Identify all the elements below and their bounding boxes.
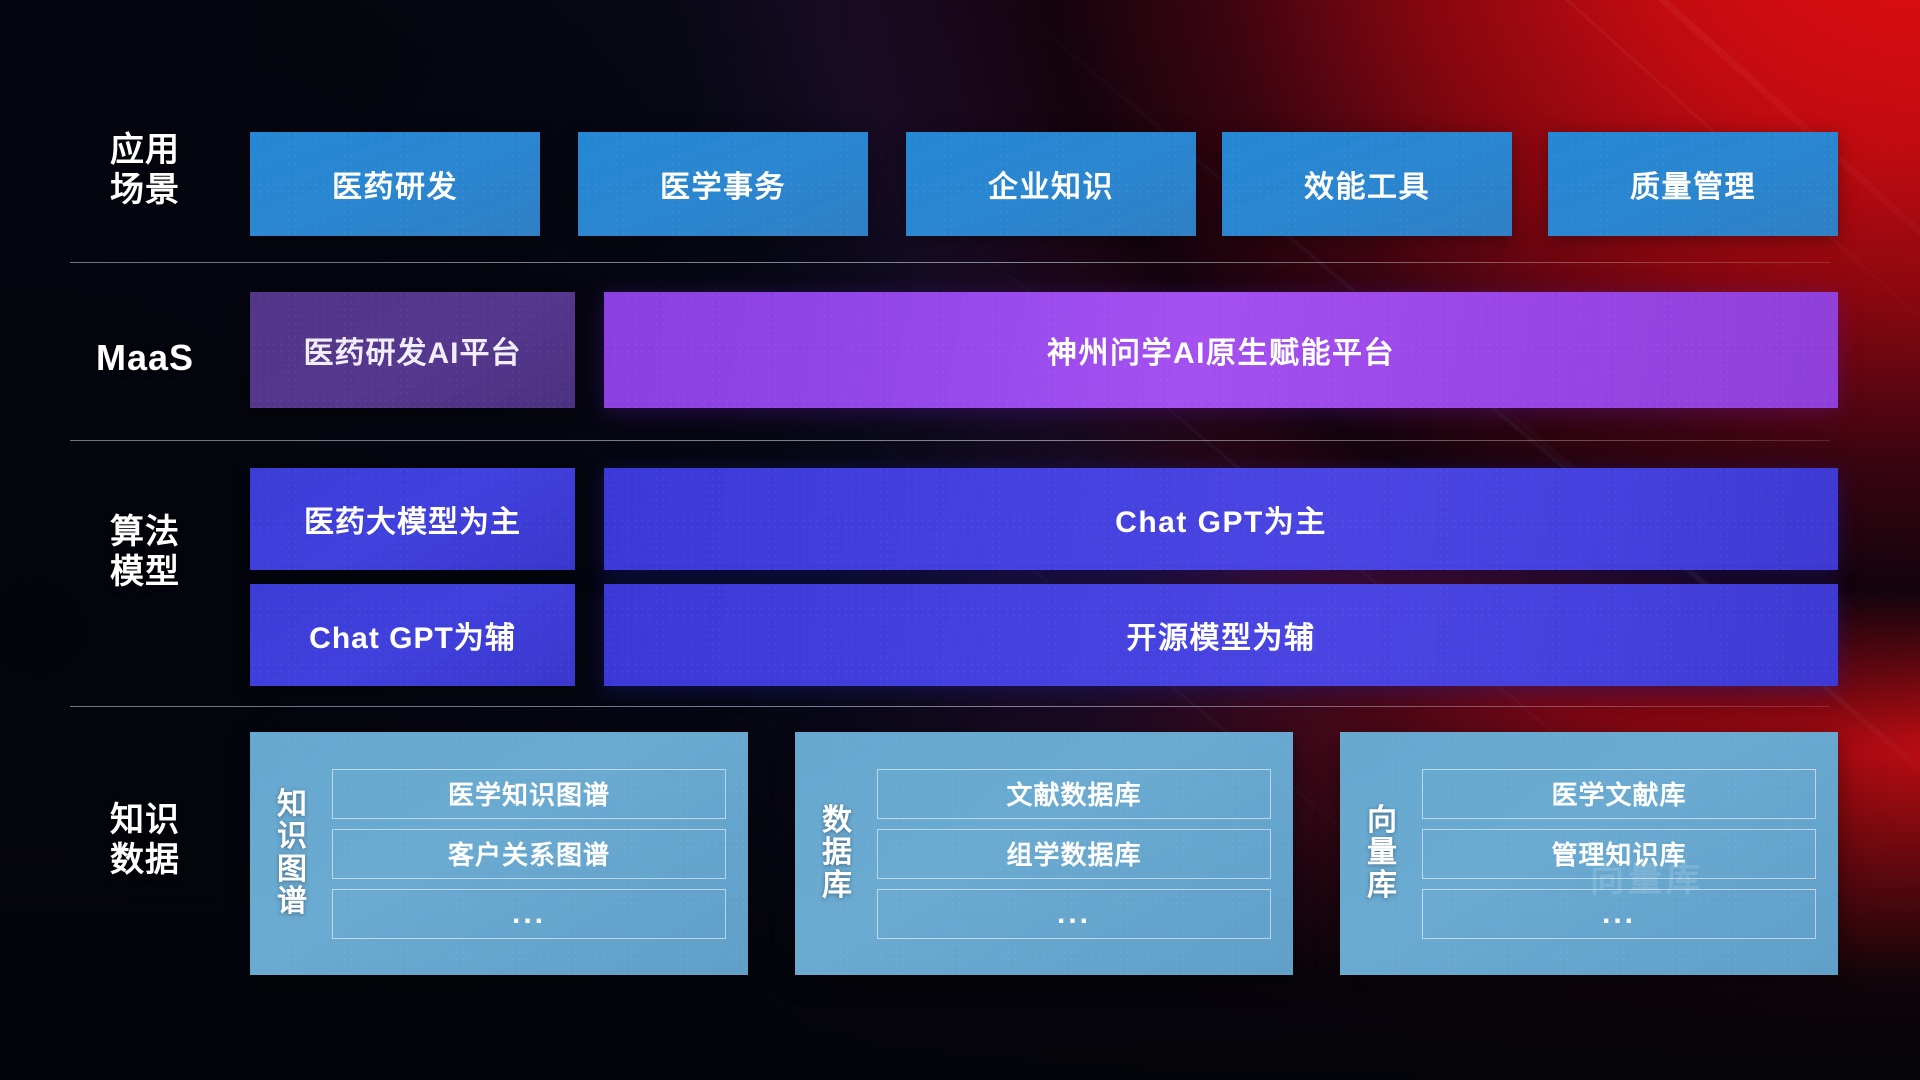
app-box-label: 质量管理 xyxy=(1630,162,1756,206)
knowledge-item-more[interactable]: ... xyxy=(877,889,1271,939)
knowledge-group-vector-store[interactable]: 向量库 向量库 医学文献库 管理知识库 ... xyxy=(1340,732,1838,975)
knowledge-group-items: 医学知识图谱 客户关系图谱 ... xyxy=(332,769,726,939)
knowledge-item[interactable]: 医学知识图谱 xyxy=(332,769,726,819)
app-box-quality-management[interactable]: 质量管理 xyxy=(1548,132,1838,236)
knowledge-group-items: 文献数据库 组学数据库 ... xyxy=(877,769,1271,939)
app-box-label: 企业知识 xyxy=(988,162,1114,206)
knowledge-item[interactable]: 文献数据库 xyxy=(877,769,1271,819)
row-label-knowledge-data: 知识 数据 xyxy=(75,800,215,880)
app-box-label: 医学事务 xyxy=(660,162,786,206)
app-box-label: 效能工具 xyxy=(1304,162,1430,206)
algo-left-label: Chat GPT为辅 xyxy=(309,613,516,657)
algo-box-chatgpt-primary[interactable]: Chat GPT为主 xyxy=(604,468,1838,570)
knowledge-group-database[interactable]: 数据库 文献数据库 组学数据库 ... xyxy=(795,732,1293,975)
algo-box-medical-llm-primary[interactable]: 医药大模型为主 xyxy=(250,468,575,570)
knowledge-group-knowledge-graph[interactable]: 知识图谱 医学知识图谱 客户关系图谱 ... xyxy=(250,732,748,975)
row-label-application-scenarios: 应用 场景 xyxy=(75,130,215,210)
knowledge-group-items: 医学文献库 管理知识库 ... xyxy=(1422,769,1816,939)
knowledge-item-more[interactable]: ... xyxy=(332,889,726,939)
knowledge-group-vertical-label: 数据库 xyxy=(813,805,861,902)
divider-row1-row2 xyxy=(70,262,1830,263)
algo-box-chatgpt-secondary[interactable]: Chat GPT为辅 xyxy=(250,584,575,686)
app-box-efficiency-tools[interactable]: 效能工具 xyxy=(1222,132,1512,236)
knowledge-item-more[interactable]: ... xyxy=(1422,889,1816,939)
algo-left-label: 医药大模型为主 xyxy=(304,497,521,541)
divider-row2-row3 xyxy=(70,440,1830,441)
knowledge-group-vertical-label: 向量库 xyxy=(1358,805,1406,902)
knowledge-item[interactable]: 组学数据库 xyxy=(877,829,1271,879)
app-box-medical-rd[interactable]: 医药研发 xyxy=(250,132,540,236)
algo-main-label: 开源模型为辅 xyxy=(1127,613,1316,657)
row-label-maas: MaaS xyxy=(75,337,215,379)
knowledge-item[interactable]: 医学文献库 xyxy=(1422,769,1816,819)
maas-box-shenzhou-wenxue-platform[interactable]: 神州问学AI原生赋能平台 xyxy=(604,292,1838,408)
app-box-enterprise-knowledge[interactable]: 企业知识 xyxy=(906,132,1196,236)
algo-main-label: Chat GPT为主 xyxy=(1115,497,1327,541)
algo-box-opensource-secondary[interactable]: 开源模型为辅 xyxy=(604,584,1838,686)
maas-box-medical-rd-ai-platform[interactable]: 医药研发AI平台 xyxy=(250,292,575,408)
knowledge-item[interactable]: 客户关系图谱 xyxy=(332,829,726,879)
app-box-medical-affairs[interactable]: 医学事务 xyxy=(578,132,868,236)
divider-row3-row4 xyxy=(70,706,1830,707)
app-box-label: 医药研发 xyxy=(332,162,458,206)
knowledge-item[interactable]: 管理知识库 xyxy=(1422,829,1816,879)
row-label-algorithm-model: 算法 模型 xyxy=(75,512,215,592)
maas-left-label: 医药研发AI平台 xyxy=(304,328,522,372)
maas-main-label: 神州问学AI原生赋能平台 xyxy=(1047,328,1395,372)
knowledge-group-vertical-label: 知识图谱 xyxy=(268,789,316,919)
architecture-diagram-slide: 应用 场景 医药研发 医学事务 企业知识 效能工具 质量管理 MaaS 医药研发… xyxy=(0,0,1920,1080)
